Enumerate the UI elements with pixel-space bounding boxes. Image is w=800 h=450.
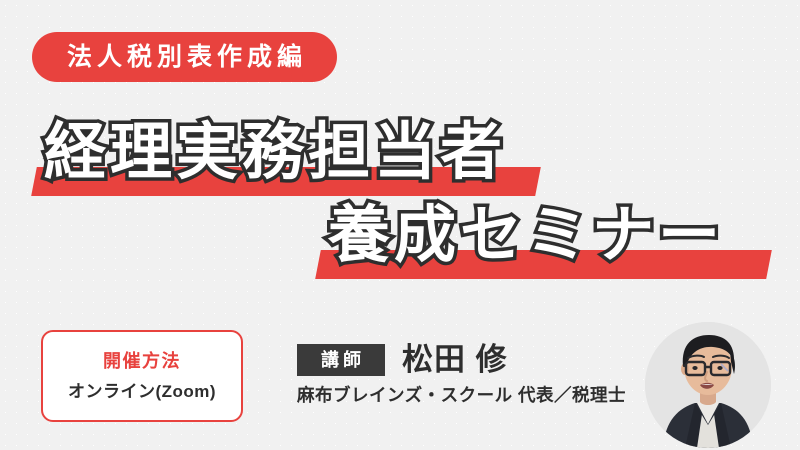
instructor-name: 松田 修 (402, 344, 508, 375)
page-title-line-2: 養成セミナー (328, 205, 724, 267)
format-info-box: 開催方法 オンライン(Zoom) (41, 330, 243, 422)
instructor-portrait-illustration (645, 322, 771, 448)
eyebrow-badge: 法人税別表作成編 (32, 32, 337, 82)
instructor-block: 講師 松田 修 麻布ブレインズ・スクール 代表／税理士 (297, 343, 626, 405)
page-title-line-1: 経理実務担当者 (44, 122, 506, 184)
instructor-tag-label: 講師 (297, 344, 385, 376)
instructor-affiliation: 麻布ブレインズ・スクール 代表／税理士 (297, 387, 626, 405)
instructor-avatar (645, 322, 771, 448)
seminar-poster: 法人税別表作成編 経理実務担当者 養成セミナー 開催方法 オンライン(Zoom)… (0, 0, 800, 450)
format-info-value: オンライン(Zoom) (68, 383, 216, 400)
instructor-name-row: 講師 松田 修 (297, 343, 626, 376)
format-info-title: 開催方法 (103, 352, 181, 370)
eyebrow-badge-label: 法人税別表作成編 (62, 45, 307, 70)
